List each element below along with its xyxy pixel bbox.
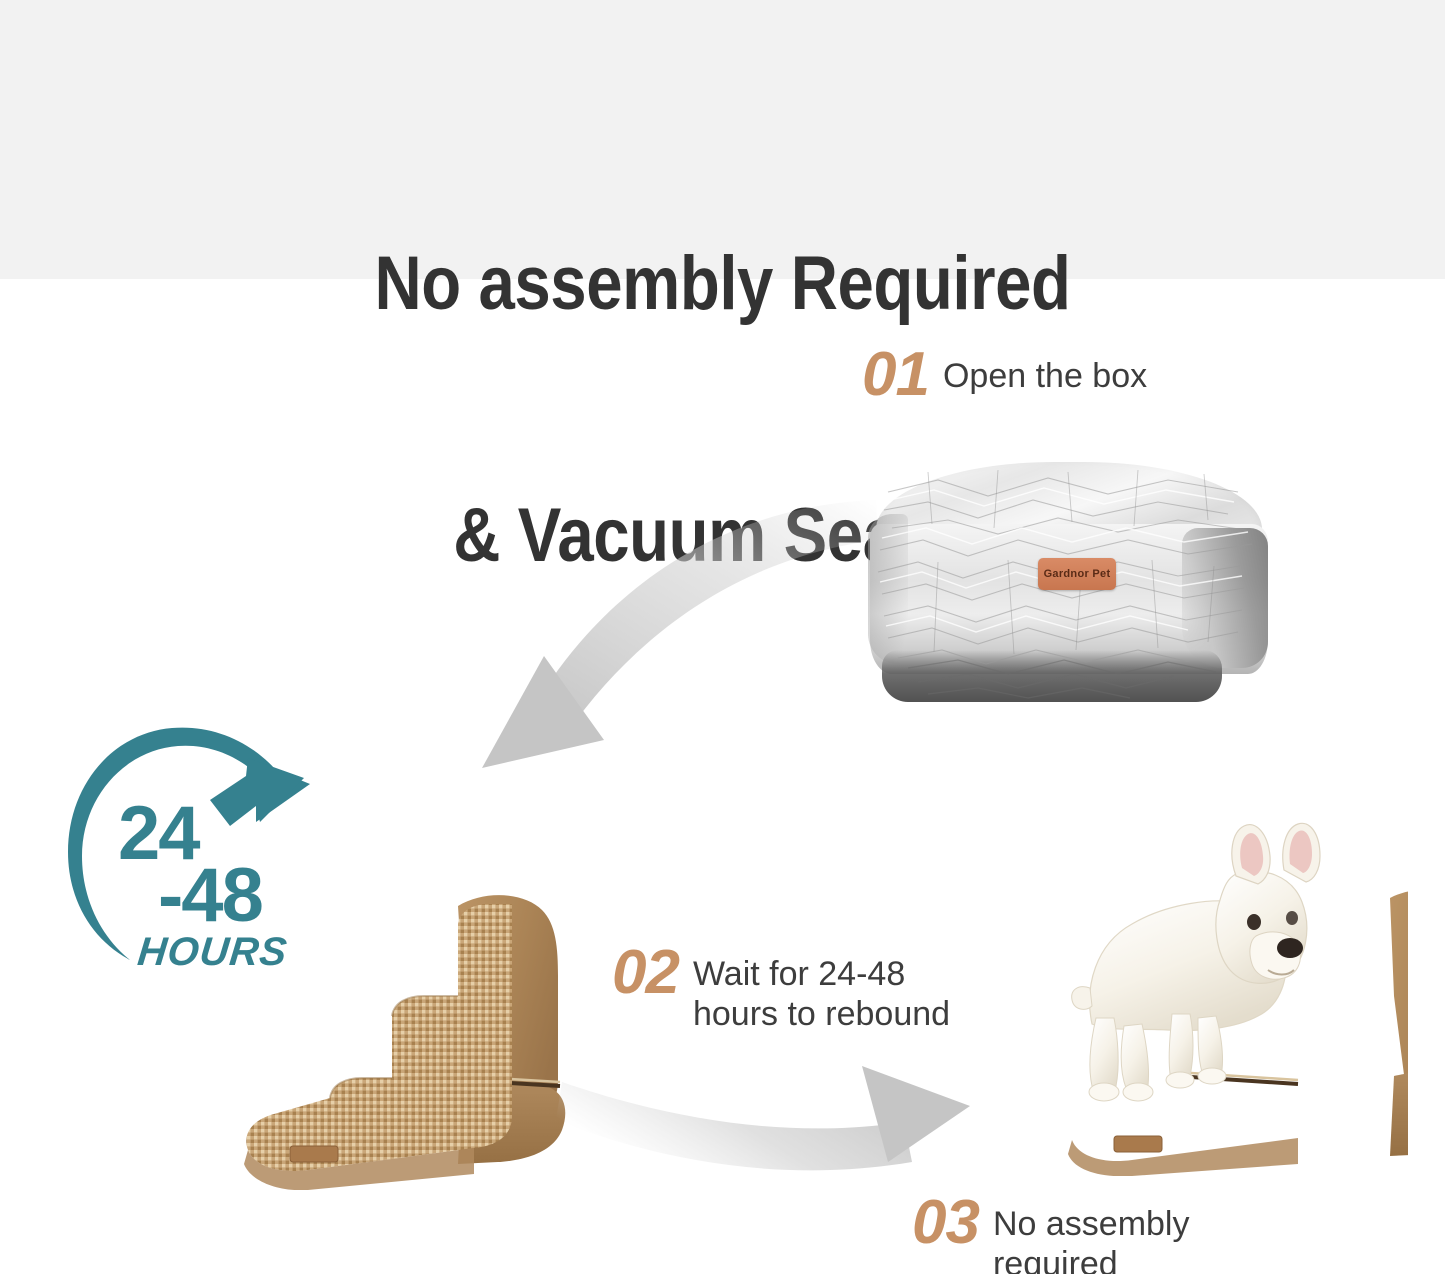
package-brand-tag: Gardnor Pet <box>1038 558 1116 590</box>
arrow-compressed-to-expanded-icon <box>556 1056 1026 1206</box>
package-bottom-shading <box>882 650 1222 702</box>
step-03-label: 03 No assembly required <box>912 1192 1189 1274</box>
package-brand-tag-label: Gardnor Pet <box>1044 568 1111 580</box>
infographic-canvas: No assembly Required & Vacuum Sealed 01 … <box>0 0 1445 1274</box>
step-03-text: No assembly required <box>993 1192 1190 1274</box>
vacuum-sealed-package: Gardnor Pet <box>868 462 1270 704</box>
pet-stairs-illustration <box>212 884 584 1190</box>
step-01-number: 01 <box>862 344 929 406</box>
step-02-number: 02 <box>612 942 679 1004</box>
package-right-shading <box>1182 528 1268 668</box>
step-03-number: 03 <box>912 1192 979 1254</box>
step-02-label: 02 Wait for 24-48 hours to rebound <box>612 942 950 1034</box>
french-bulldog-illustration <box>1040 818 1340 1178</box>
stairs-brand-tag <box>290 1146 338 1162</box>
french-bulldog <box>1040 818 1340 1178</box>
step-02-text: Wait for 24-48 hours to rebound <box>693 942 950 1034</box>
step-01-text: Open the box <box>943 344 1147 396</box>
package-left-shading <box>868 514 908 664</box>
title-line-1: No assembly Required <box>101 242 1344 326</box>
step-01-label: 01 Open the box <box>862 344 1147 406</box>
pet-stairs-left <box>212 884 584 1190</box>
